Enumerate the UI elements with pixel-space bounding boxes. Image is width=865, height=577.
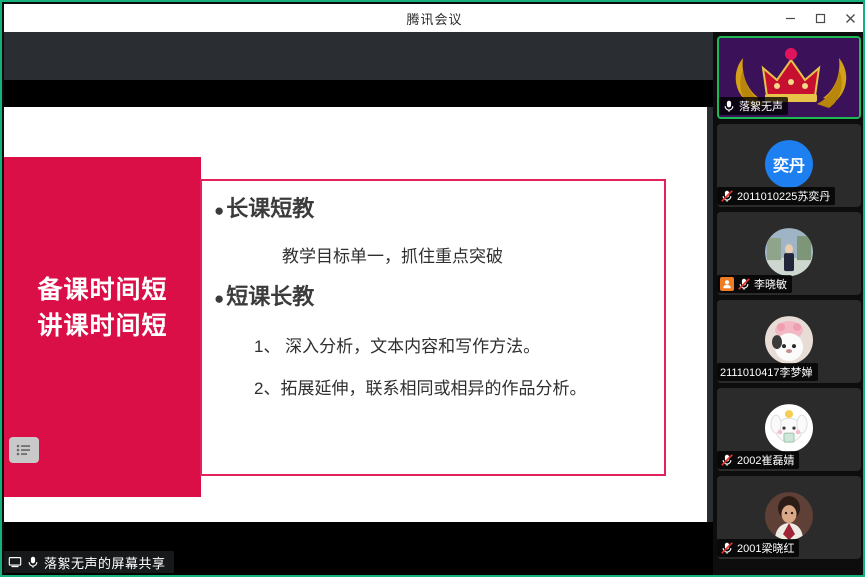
window-title: 腾讯会议 [406,9,462,28]
microphone-muted-icon [720,541,734,555]
participant-name: 李晓敏 [754,276,787,292]
participant-name: 2111010417李梦婵 [720,364,813,380]
participant-tile[interactable]: 2111010417李梦婵 [717,300,861,383]
slide-heading-2-row: ● 短课长教 [214,279,314,311]
slide-heading-1-row: ● 长课短教 [214,191,314,223]
maximize-button[interactable] [805,4,835,32]
bullet-icon: ● [214,290,224,307]
window-controls [775,4,865,32]
share-status-text: 落絮无声的屏幕共享 [44,553,166,572]
screen-top-band [4,32,713,80]
participant-tile[interactable]: 2002崔磊婧 [717,388,861,471]
avatar [765,228,813,276]
slide-heading-1: 长课短教 [226,191,314,223]
participant-name-strip: 2002崔磊婧 [717,451,799,469]
close-button[interactable] [835,4,865,32]
left-panel-line-1: 备课时间短 [4,273,201,309]
screen-black-band [4,80,713,107]
participant-name-strip: 2011010225苏奕丹 [717,187,835,205]
left-panel-line-2: 讲课时间短 [4,309,201,345]
slide-content-box: ● 长课短教 教学目标单一，抓住重点突破 ● 短课长教 1、 深入分析，文本内容… [200,179,666,476]
avatar-photo [765,316,813,364]
avatar: 奕丹 [765,140,813,188]
microphone-muted-icon [720,189,734,203]
participant-name: 2011010225苏奕丹 [737,188,830,204]
participant-tile[interactable]: 2001梁晓红 [717,476,861,559]
title-bar: 腾讯会议 [4,4,865,32]
presentation-slide: 备课时间短 讲课时间短 ● 长课短教 教学目标单一，抓住重点突破 ● 短课长教 … [4,107,707,522]
microphone-muted-icon [720,453,734,467]
slide-left-panel-text: 备课时间短 讲课时间短 [4,273,201,344]
shared-screen-area[interactable]: 备课时间短 讲课时间短 ● 长课短教 教学目标单一，抓住重点突破 ● 短课长教 … [4,32,713,577]
participant-name: 2001梁晓红 [737,540,794,556]
slide-heading-2: 短课长教 [226,279,314,311]
participant-tile[interactable]: 李晓敏 [717,212,861,295]
participant-name-strip: 李晓敏 [717,275,792,293]
microphone-icon [26,555,40,569]
participant-tile[interactable]: 奕丹 2011010225苏奕丹 [717,124,861,207]
share-status-bar: 落絮无声的屏幕共享 [4,551,174,573]
microphone-icon [722,99,736,113]
slide-list-item-2: 2、拓展延伸，联系相同或相异的作品分析。 [254,374,586,399]
list-menu-icon [16,444,32,456]
avatar [765,492,813,540]
avatar [765,404,813,452]
bullet-icon: ● [214,202,224,219]
screen-share-icon [8,555,22,569]
avatar [765,316,813,364]
minimize-button[interactable] [775,4,805,32]
avatar-photo [765,492,813,540]
slide-list-item-1: 1、 深入分析，文本内容和写作方法。 [254,332,540,357]
participant-name-strip: 落絮无声 [719,97,788,115]
participant-name-strip: 2111010417李梦婵 [717,363,818,381]
list-menu-button[interactable] [9,437,39,463]
avatar-initials: 奕丹 [773,152,805,176]
meeting-window: 腾讯会议 备课时间短 讲课时间短 [0,0,865,577]
participant-tile[interactable]: 落絮无声 [717,36,861,119]
participant-name: 落絮无声 [739,98,783,114]
participant-name-strip: 2001梁晓红 [717,539,799,557]
avatar-photo [765,404,813,452]
participant-name: 2002崔磊婧 [737,452,794,468]
participants-rail[interactable]: 落絮无声 奕丹 2011010225苏奕丹 [713,32,865,577]
avatar-photo [765,228,813,276]
host-badge-icon [720,277,734,291]
slide-subtext-1: 教学目标单一，抓住重点突破 [282,242,503,267]
microphone-muted-icon [737,277,751,291]
